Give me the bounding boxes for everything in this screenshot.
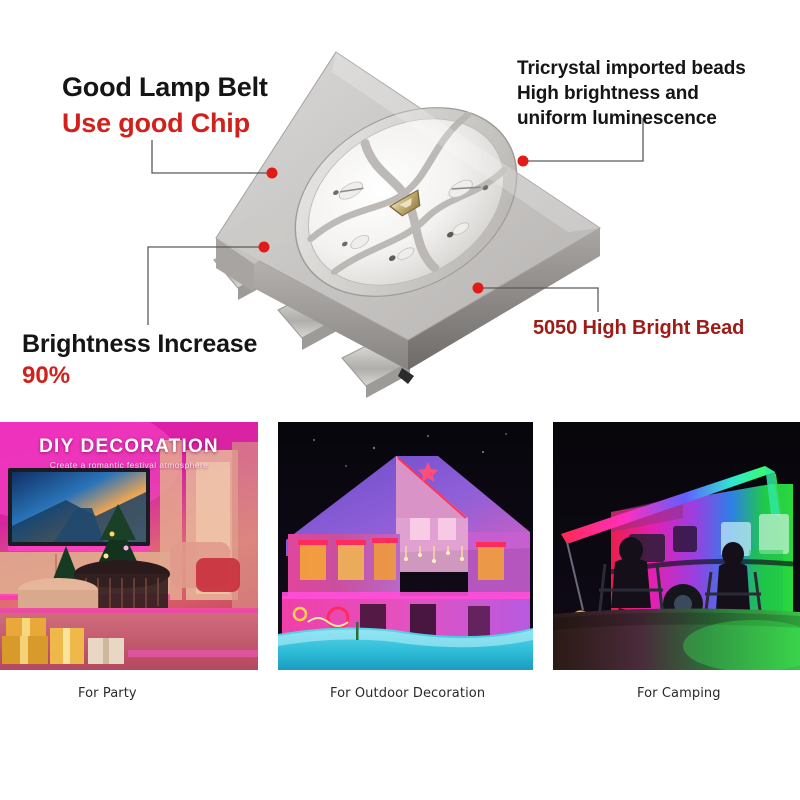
photo-camping (553, 422, 800, 670)
callout-brightness-increase: Brightness Increase (22, 330, 257, 359)
callout-tricrystal: Tricrystal imported beads High brightnes… (517, 56, 746, 131)
photo-outdoor-decoration (278, 422, 533, 670)
callout-bead-model: 5050 High Bright Bead (533, 317, 744, 340)
callout-brightness-percent: 90% (22, 362, 70, 390)
caption-for-party: For Party (78, 686, 137, 701)
caption-for-camping: For Camping (637, 686, 721, 701)
infographic-stage: Good Lamp Belt Use good Chip Tricrystal … (0, 0, 800, 800)
use-case-photo-row: DIY DECORATION Create a romantic festiva… (0, 422, 800, 692)
callout-good-lamp-belt-line2: Use good Chip (62, 108, 250, 139)
photo-party-overlay-subtitle: Create a romantic festival atmosphere (0, 460, 258, 470)
caption-for-outdoor-decoration: For Outdoor Decoration (330, 686, 485, 701)
photo-party: DIY DECORATION Create a romantic festiva… (0, 422, 258, 670)
callout-good-lamp-belt-line1: Good Lamp Belt (62, 72, 268, 103)
photo-party-overlay-title: DIY DECORATION (0, 436, 258, 458)
